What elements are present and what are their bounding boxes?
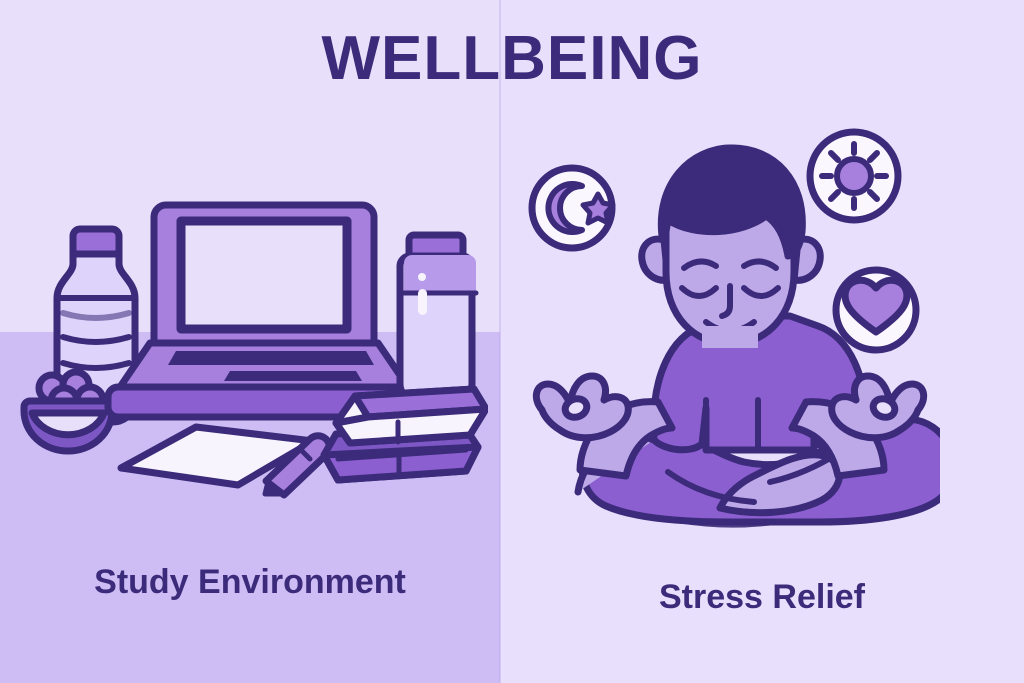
sun-badge	[810, 132, 898, 220]
page-title: WELLBEING	[0, 28, 1024, 90]
laptop	[108, 205, 418, 417]
meditation-scene	[520, 120, 940, 540]
caption-stress-relief: Stress Relief	[500, 578, 1024, 617]
heart-badge	[836, 270, 916, 350]
desk-study-scene	[18, 185, 488, 505]
book-stack	[324, 389, 486, 480]
moon-star-badge	[532, 168, 613, 248]
left-hand-mudra	[536, 376, 628, 438]
wellbeing-poster: WELLBEING	[0, 0, 1024, 683]
sun-icon	[837, 159, 871, 193]
small-jar	[400, 235, 476, 400]
caption-study-environment: Study Environment	[0, 563, 500, 602]
neck	[702, 326, 758, 348]
